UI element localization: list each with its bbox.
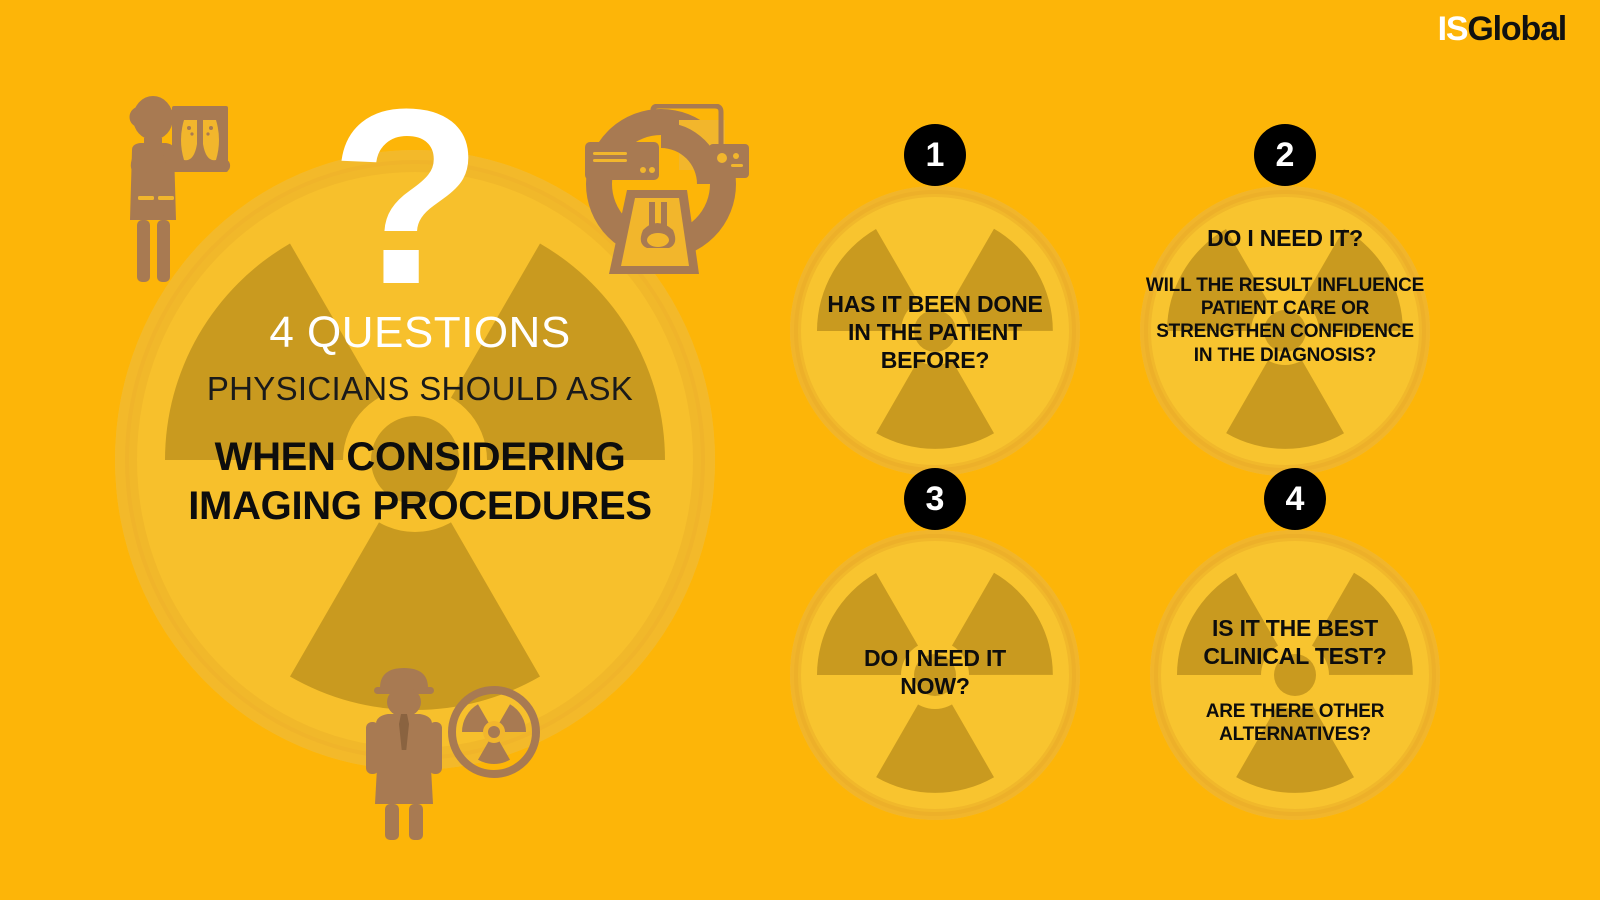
question-badge-3: 3 — [904, 468, 966, 530]
question-badge-4: 4 — [1264, 468, 1326, 530]
hero-title-bold-line2: IMAGING PROCEDURES — [120, 482, 720, 531]
question-head-line: CLINICAL TEST? — [1136, 642, 1454, 670]
question-head-line: DO I NEED IT — [776, 644, 1094, 672]
logo-text-is: IS — [1438, 10, 1468, 48]
logo-text-global: Global — [1467, 10, 1566, 48]
question-sub-line: PATIENT CARE OR — [1126, 297, 1444, 320]
question-head-line: IN THE PATIENT — [776, 318, 1094, 346]
isglobal-logo: ISGlobal — [1438, 12, 1566, 46]
question-head-line: NOW? — [776, 672, 1094, 700]
question-head-line: IS IT THE BEST — [1136, 614, 1454, 642]
question-sub-line: ALTERNATIVES? — [1136, 723, 1454, 746]
question-sub-line: STRENGTHEN CONFIDENCE — [1126, 320, 1444, 343]
question-sub-line: IN THE DIAGNOSIS? — [1126, 344, 1444, 367]
hero-title-bold-line1: WHEN CONSIDERING — [120, 433, 720, 482]
question-card-3[interactable]: 3 DO I NEED IT NOW? — [790, 530, 1080, 820]
ct-scanner-icon — [583, 104, 751, 282]
question-text-1: HAS IT BEEN DONE IN THE PATIENT BEFORE? — [776, 290, 1094, 374]
question-head-line: HAS IT BEEN DONE — [776, 290, 1094, 318]
question-card-4[interactable]: 4 IS IT THE BEST CLINICAL TEST? ARE THER… — [1150, 530, 1440, 820]
question-sub-line: ARE THERE OTHER — [1136, 700, 1454, 723]
question-head-1: HAS IT BEEN DONE IN THE PATIENT BEFORE? — [776, 290, 1094, 374]
question-text-4: IS IT THE BEST CLINICAL TEST? ARE THERE … — [1136, 614, 1454, 746]
question-head-line: DO I NEED IT? — [1126, 224, 1444, 252]
question-mark-graphic: ? — [330, 72, 483, 322]
hero-title-primary: 4 QUESTIONS — [120, 310, 720, 356]
question-sub-line: WILL THE RESULT INFLUENCE — [1126, 274, 1444, 297]
hero-subtitle: PHYSICIANS SHOULD ASK — [120, 372, 720, 407]
question-head-3: DO I NEED IT NOW? — [776, 644, 1094, 700]
hero-title-bold: WHEN CONSIDERING IMAGING PROCEDURES — [120, 433, 720, 531]
doctor-holding-xray-icon — [104, 92, 236, 288]
question-badge-2: 2 — [1254, 124, 1316, 186]
question-head-line: BEFORE? — [776, 346, 1094, 374]
question-card-1[interactable]: 1 HAS IT BEEN DONE IN THE PATIENT BEFORE… — [790, 186, 1080, 476]
question-badge-1: 1 — [904, 124, 966, 186]
question-text-2: DO I NEED IT? WILL THE RESULT INFLUENCE … — [1126, 224, 1444, 367]
question-head-4: IS IT THE BEST CLINICAL TEST? — [1136, 614, 1454, 670]
question-sub-4: ARE THERE OTHER ALTERNATIVES? — [1136, 700, 1454, 746]
worker-with-radiation-symbol-icon — [360, 662, 540, 842]
question-head-2: DO I NEED IT? — [1126, 224, 1444, 252]
question-text-3: DO I NEED IT NOW? — [776, 644, 1094, 700]
hero-title-block: 4 QUESTIONS PHYSICIANS SHOULD ASK WHEN C… — [120, 310, 720, 530]
question-sub-2: WILL THE RESULT INFLUENCE PATIENT CARE O… — [1126, 274, 1444, 367]
question-card-2[interactable]: 2 DO I NEED IT? WILL THE RESULT INFLUENC… — [1140, 186, 1430, 476]
